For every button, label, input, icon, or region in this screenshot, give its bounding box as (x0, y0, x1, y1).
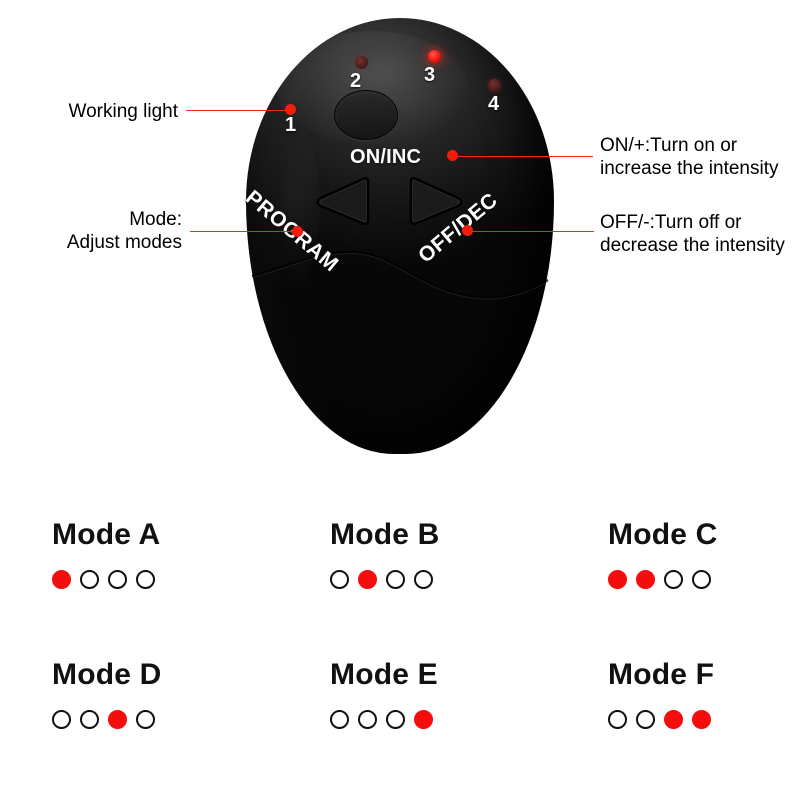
mode-dot-2-empty (358, 710, 377, 729)
leader-line-on-plus (455, 156, 593, 157)
center-oval-button[interactable] (334, 90, 398, 140)
callout-mode-adjust: Mode: Adjust modes (0, 208, 182, 254)
mode-dot-3-empty (108, 570, 127, 589)
callout-on-plus: ON/+:Turn on or increase the intensity (600, 134, 800, 180)
mode-dots-d (52, 710, 302, 729)
mode-dots-e (330, 710, 580, 729)
led-number-1: 1 (285, 114, 296, 137)
callout-off-minus-line-1: OFF/-:Turn off or (600, 211, 800, 234)
mode-dot-2-empty (80, 570, 99, 589)
mode-dot-4-empty (414, 570, 433, 589)
leader-line-off-minus (470, 231, 594, 232)
mode-dot-2-empty (636, 710, 655, 729)
mode-title-e: Mode E (330, 658, 580, 692)
callout-on-plus-line-1: ON/+:Turn on or (600, 134, 800, 157)
mode-dot-1-empty (330, 710, 349, 729)
led-number-4: 4 (488, 93, 499, 116)
modes-legend: Mode A Mode B Mode C Mode D Mode E Mode … (0, 500, 800, 780)
diagram-canvas: 2 3 4 1 ON/INC PROGRAM OFF/DEC (0, 0, 800, 800)
led-indicator-2 (355, 56, 368, 69)
callout-working-light: Working light (0, 100, 178, 123)
mode-dots-c (608, 570, 800, 589)
callout-off-minus: OFF/-:Turn off or decrease the intensity (600, 211, 800, 257)
callout-dot-on-plus (447, 150, 458, 161)
mode-dot-4-empty (692, 570, 711, 589)
mode-item-a: Mode A (52, 518, 302, 589)
mode-dot-1-empty (608, 710, 627, 729)
callout-on-plus-line-2: increase the intensity (600, 157, 800, 180)
leader-line-working-light (186, 110, 291, 111)
mode-dot-4-filled (692, 710, 711, 729)
device-label-on-inc: ON/INC (350, 146, 421, 169)
mode-title-a: Mode A (52, 518, 302, 552)
mode-dot-4-filled (414, 710, 433, 729)
callout-mode-line-1: Mode: (0, 208, 182, 231)
mode-dot-3-empty (664, 570, 683, 589)
led-number-3: 3 (424, 64, 435, 87)
mode-dots-f (608, 710, 800, 729)
mode-title-f: Mode F (608, 658, 800, 692)
mode-dot-1-filled (608, 570, 627, 589)
mode-dots-b (330, 570, 580, 589)
led-indicator-3 (428, 50, 441, 63)
mode-dot-2-empty (80, 710, 99, 729)
left-arrow-button[interactable] (311, 173, 373, 229)
leader-line-mode (190, 231, 300, 232)
mode-item-e: Mode E (330, 658, 580, 729)
mode-dot-4-empty (136, 570, 155, 589)
mode-dot-3-empty (386, 570, 405, 589)
mode-item-c: Mode C (608, 518, 800, 589)
led-indicator-4 (488, 79, 501, 92)
mode-dot-3-empty (386, 710, 405, 729)
mode-dot-2-filled (636, 570, 655, 589)
callout-dot-mode (292, 226, 303, 237)
mode-title-b: Mode B (330, 518, 580, 552)
mode-dot-1-filled (52, 570, 71, 589)
mode-dot-1-empty (330, 570, 349, 589)
callout-working-light-line-1: Working light (0, 100, 178, 123)
callout-dot-working-light (285, 104, 296, 115)
mode-item-f: Mode F (608, 658, 800, 729)
mode-title-c: Mode C (608, 518, 800, 552)
mode-title-d: Mode D (52, 658, 302, 692)
mode-dots-a (52, 570, 302, 589)
mode-dot-1-empty (52, 710, 71, 729)
mode-item-d: Mode D (52, 658, 302, 729)
mode-dot-3-filled (664, 710, 683, 729)
mode-dot-3-filled (108, 710, 127, 729)
mode-item-b: Mode B (330, 518, 580, 589)
mode-dot-2-filled (358, 570, 377, 589)
mode-dot-4-empty (136, 710, 155, 729)
callout-mode-line-2: Adjust modes (0, 231, 182, 254)
callout-off-minus-line-2: decrease the intensity (600, 234, 800, 257)
remote-control-device: 2 3 4 1 ON/INC PROGRAM OFF/DEC (246, 18, 554, 454)
callout-dot-off-minus (462, 225, 473, 236)
